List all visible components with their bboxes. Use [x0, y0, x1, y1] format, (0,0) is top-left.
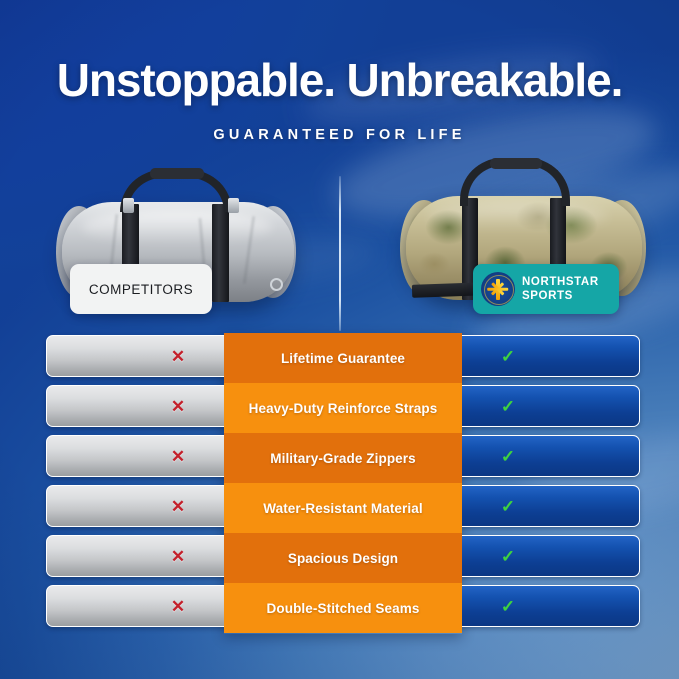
green-check-icon: ✓: [501, 498, 515, 515]
feature-label: Water-Resistant Material: [224, 483, 462, 533]
green-check-icon: ✓: [501, 348, 515, 365]
feature-label: Double-Stitched Seams: [224, 583, 462, 633]
feature-label: Lifetime Guarantee: [224, 333, 462, 383]
red-x-icon: ✕: [171, 398, 185, 415]
red-x-icon: ✕: [171, 448, 185, 465]
feature-label: Heavy-Duty Reinforce Straps: [224, 383, 462, 433]
red-x-icon: ✕: [171, 548, 185, 565]
red-x-icon: ✕: [171, 598, 185, 615]
green-check-icon: ✓: [501, 548, 515, 565]
green-check-icon: ✓: [501, 598, 515, 615]
feature-label: Military-Grade Zippers: [224, 433, 462, 483]
feature-label: Spacious Design: [224, 533, 462, 583]
green-check-icon: ✓: [501, 398, 515, 415]
comparison-table: ✕ ✓ ✕ ✓ ✕ ✓ ✕: [0, 0, 679, 679]
red-x-icon: ✕: [171, 498, 185, 515]
red-x-icon: ✕: [171, 348, 185, 365]
comparison-poster: Unstoppable. Unbreakable. GUARANTEED FOR…: [0, 0, 679, 679]
green-check-icon: ✓: [501, 448, 515, 465]
